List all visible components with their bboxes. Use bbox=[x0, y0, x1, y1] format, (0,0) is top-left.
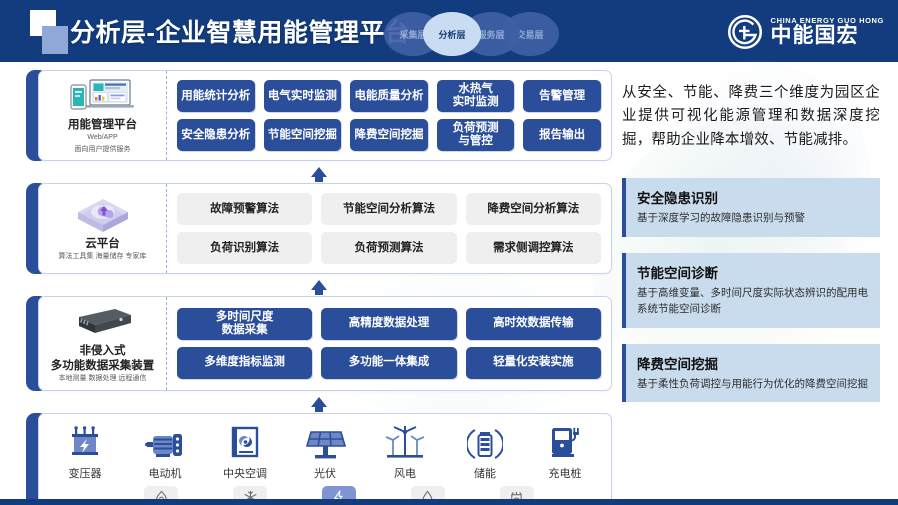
chip-item[interactable]: 负荷识别算法 bbox=[177, 232, 312, 264]
device-row: 变压器 bbox=[45, 422, 605, 481]
panel-chip-grid: 多时间尺度数据采集 高精度数据处理 高时效数据传输 多维度指标监测 多功能一体集… bbox=[167, 297, 611, 389]
device-item-central-ac[interactable]: 中央空调 bbox=[209, 422, 281, 481]
arrow-up-icon bbox=[311, 280, 327, 290]
info-card-subtitle: 基于柔性负荷调控与用能行为优化的降费空间挖掘 bbox=[637, 377, 869, 393]
chip-item[interactable]: 用能统计分析 bbox=[177, 80, 255, 112]
footer-accent-line bbox=[0, 499, 898, 505]
device-label: 风电 bbox=[394, 465, 416, 481]
chip-item[interactable]: 安全隐患分析 bbox=[177, 119, 255, 151]
device-item-transformer[interactable]: 变压器 bbox=[49, 422, 121, 481]
chip-item[interactable]: 高精度数据处理 bbox=[321, 308, 456, 340]
chip-item[interactable]: 降费空间分析算法 bbox=[466, 193, 601, 225]
device-label: 变压器 bbox=[69, 465, 102, 481]
chip-item[interactable]: 报告输出 bbox=[523, 119, 601, 151]
solar-panel-icon bbox=[303, 428, 347, 462]
panel-subtitle-1: 本地测量 数据处理 远程通信 bbox=[59, 374, 147, 385]
info-card-subtitle: 基于深度学习的故障隐患识别与预警 bbox=[637, 211, 869, 227]
laptop-phone-dashboard-icon bbox=[68, 77, 138, 115]
chip-item[interactable]: 节能空间分析算法 bbox=[321, 193, 456, 225]
cloud-platform-isometric-icon bbox=[74, 195, 132, 235]
wind-turbine-icon bbox=[384, 426, 426, 462]
device-item-charging-pile[interactable]: 充电桩 bbox=[529, 422, 601, 481]
layer-ellipse-analysis-active[interactable]: 分析层 bbox=[423, 12, 481, 56]
info-card-cost-reduction[interactable]: 降费空间挖掘 基于柔性负荷调控与用能行为优化的降费空间挖掘 bbox=[622, 344, 880, 403]
chip-item[interactable]: 需求侧调控算法 bbox=[466, 232, 601, 264]
panel-subtitle-2: 面向用户提供服务 bbox=[75, 145, 131, 156]
chip-item[interactable]: 轻量化安装实施 bbox=[466, 347, 601, 379]
chip-item[interactable]: 水热气实时监测 bbox=[437, 80, 515, 112]
brand-logo: CHINA ENERGY GUO HONG 中能国宏 bbox=[727, 14, 884, 50]
device-label: 储能 bbox=[474, 465, 496, 481]
chip-row: 多时间尺度数据采集 高精度数据处理 高时效数据传输 bbox=[177, 308, 601, 340]
page-title: 分析层-企业智慧用能管理平台 bbox=[70, 13, 410, 49]
panel-subtitle-1: Web/APP bbox=[87, 133, 117, 144]
slide-root: 分析层-企业智慧用能管理平台 采集层 服务层 交易层 分析层 CHINA ENE… bbox=[0, 0, 898, 505]
device-label: 电动机 bbox=[149, 465, 182, 481]
chip-row: 用能统计分析 电气实时监测 电能质量分析 水热气实时监测 告警管理 bbox=[177, 80, 601, 112]
chip-item[interactable]: 负荷预测与管控 bbox=[437, 119, 515, 151]
panel-energy-management-platform: 用能管理平台 Web/APP 面向用户提供服务 用能统计分析 电气实时监测 电能… bbox=[26, 70, 612, 161]
device-item-solar[interactable]: 光伏 bbox=[289, 422, 361, 481]
brand-text-block: CHINA ENERGY GUO HONG 中能国宏 bbox=[771, 16, 884, 47]
chip-item[interactable]: 高时效数据传输 bbox=[466, 308, 601, 340]
chip-item[interactable]: 电能质量分析 bbox=[350, 80, 428, 112]
panel-subtitle-1: 算法工具集 海量储存 专家库 bbox=[59, 252, 147, 263]
info-card-energy-saving[interactable]: 节能空间诊断 基于高维变量、多时间尺度实际状态辨识的配用电系统节能空间诊断 bbox=[622, 253, 880, 328]
chip-item[interactable]: 多维度指标监测 bbox=[177, 347, 312, 379]
info-card-subtitle: 基于高维变量、多时间尺度实际状态辨识的配用电系统节能空间诊断 bbox=[637, 286, 869, 318]
chip-item[interactable]: 节能空间挖掘 bbox=[264, 119, 342, 151]
chip-item[interactable]: 多时间尺度数据采集 bbox=[177, 308, 312, 340]
data-collection-device-icon bbox=[71, 305, 135, 339]
charging-pile-icon bbox=[548, 426, 582, 462]
chip-item[interactable]: 电气实时监测 bbox=[264, 80, 342, 112]
chip-item[interactable]: 降费空间挖掘 bbox=[350, 119, 428, 151]
panel-title-2: 多功能数据采集装置 bbox=[51, 359, 155, 373]
decor-square-blue bbox=[42, 26, 68, 54]
device-item-motor[interactable]: 电动机 bbox=[129, 422, 201, 481]
energy-storage-icon bbox=[467, 426, 503, 462]
device-grid: 变压器 bbox=[39, 414, 611, 505]
central-air-conditioner-icon bbox=[230, 426, 260, 462]
flow-arrow-3 bbox=[26, 391, 612, 413]
chip-item[interactable]: 负荷预测算法 bbox=[321, 232, 456, 264]
panel-data-acquisition-device: 非侵入式 多功能数据采集装置 本地测量 数据处理 远程通信 多时间尺度数据采集 … bbox=[26, 296, 612, 390]
chip-row: 安全隐患分析 节能空间挖掘 降费空间挖掘 负荷预测与管控 报告输出 bbox=[177, 119, 601, 151]
chip-row: 多维度指标监测 多功能一体集成 轻量化安装实施 bbox=[177, 347, 601, 379]
flow-arrow-1 bbox=[26, 161, 612, 183]
arrow-up-icon bbox=[311, 397, 327, 407]
description-column: 从安全、节能、降费三个维度为园区企业提供可视化能源管理和数据深度挖掘，帮助企业降… bbox=[622, 82, 880, 418]
chip-row: 负荷识别算法 负荷预测算法 需求侧调控算法 bbox=[177, 232, 601, 264]
device-label: 充电桩 bbox=[549, 465, 582, 481]
device-item-wind[interactable]: 风电 bbox=[369, 422, 441, 481]
device-item-storage[interactable]: 储能 bbox=[449, 422, 521, 481]
panel-icon-block: 非侵入式 多功能数据采集装置 本地测量 数据处理 远程通信 bbox=[39, 297, 167, 389]
panel-chip-grid: 用能统计分析 电气实时监测 电能质量分析 水热气实时监测 告警管理 安全隐患分析… bbox=[167, 71, 611, 160]
overview-description: 从安全、节能、降费三个维度为园区企业提供可视化能源管理和数据深度挖掘，帮助企业降… bbox=[622, 82, 880, 152]
info-card-title: 降费空间挖掘 bbox=[637, 353, 869, 373]
device-label: 光伏 bbox=[314, 465, 336, 481]
flow-arrow-2 bbox=[26, 274, 612, 296]
info-card-title: 安全隐患识别 bbox=[637, 187, 869, 207]
arrow-up-icon bbox=[311, 167, 327, 177]
panel-icon-block: 用能管理平台 Web/APP 面向用户提供服务 bbox=[39, 71, 167, 160]
chip-row: 故障预警算法 节能空间分析算法 降费空间分析算法 bbox=[177, 193, 601, 225]
panel-title: 用能管理平台 bbox=[68, 118, 137, 132]
info-card-safety[interactable]: 安全隐患识别 基于深度学习的故障隐患识别与预警 bbox=[622, 178, 880, 237]
brand-name-cn: 中能国宏 bbox=[771, 25, 884, 47]
panel-title: 非侵入式 bbox=[80, 344, 126, 358]
transformer-icon bbox=[68, 426, 102, 462]
guohong-logo-icon bbox=[727, 14, 763, 50]
chip-item[interactable]: 故障预警算法 bbox=[177, 193, 312, 225]
panel-chip-grid: 故障预警算法 节能空间分析算法 降费空间分析算法 负荷识别算法 负荷预测算法 需… bbox=[167, 184, 611, 273]
panel-title: 云平台 bbox=[85, 237, 120, 251]
architecture-column: 用能管理平台 Web/APP 面向用户提供服务 用能统计分析 电气实时监测 电能… bbox=[26, 70, 612, 505]
chip-item[interactable]: 告警管理 bbox=[523, 80, 601, 112]
device-label: 中央空调 bbox=[223, 465, 267, 481]
panel-icon-block: 云平台 算法工具集 海量储存 专家库 bbox=[39, 184, 167, 273]
panel-cloud-platform: 云平台 算法工具集 海量储存 专家库 故障预警算法 节能空间分析算法 降费空间分… bbox=[26, 183, 612, 274]
motor-icon bbox=[145, 428, 185, 462]
chip-item[interactable]: 多功能一体集成 bbox=[321, 347, 456, 379]
panel-equipment-layer: 变压器 bbox=[26, 413, 612, 505]
info-card-title: 节能空间诊断 bbox=[637, 262, 869, 282]
header-bar: 分析层-企业智慧用能管理平台 采集层 服务层 交易层 分析层 CHINA ENE… bbox=[0, 0, 898, 62]
